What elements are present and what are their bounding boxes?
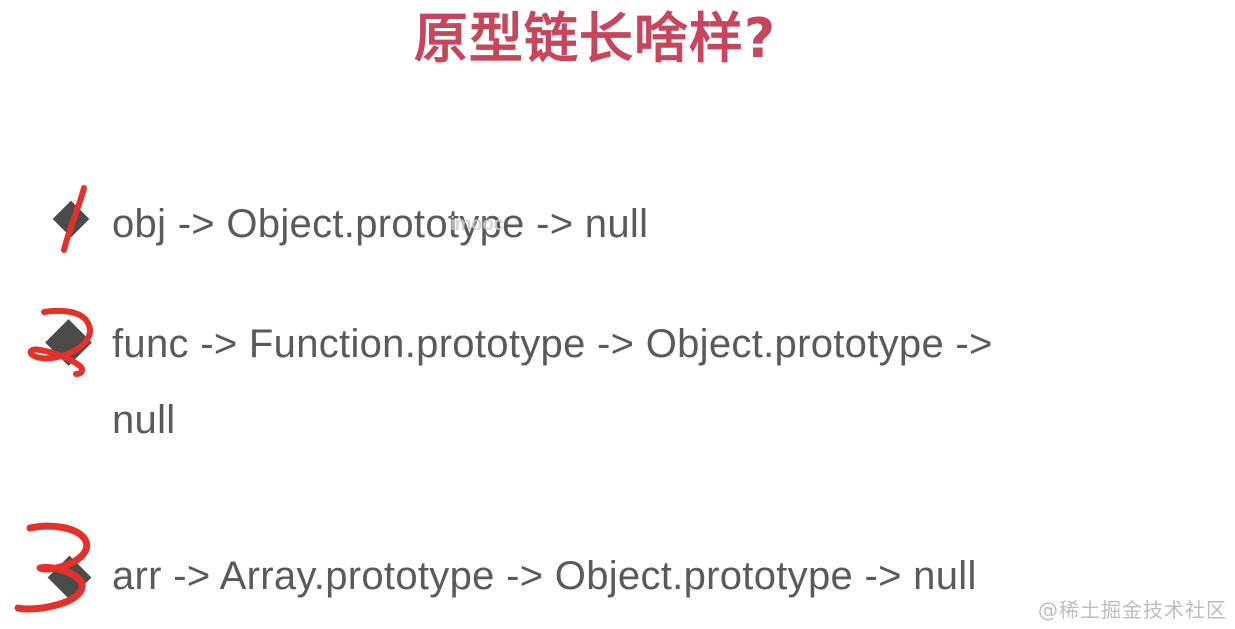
slide-canvas: 原型链长啥样? obj -> Object.prototype -> null … — [0, 0, 1235, 629]
list-item: func -> Function.prototype -> Object.pro… — [0, 312, 1235, 376]
continuation-indent-spacer — [0, 398, 112, 448]
bullet-marker-3 — [0, 544, 112, 608]
diamond-bullet-icon — [48, 556, 92, 600]
bullet-marker-2 — [0, 312, 112, 376]
page-title: 原型链长啥样? — [0, 8, 1190, 70]
chain-text-2-continuation-row: null — [0, 398, 1235, 448]
chain-text-3: arr -> Array.prototype -> Object.prototy… — [112, 544, 1112, 608]
diamond-bullet-icon — [53, 201, 90, 238]
list-item: obj -> Object.prototype -> null — [0, 192, 1235, 256]
bullet-marker-1 — [0, 192, 112, 256]
chain-text-1: obj -> Object.prototype -> null — [112, 192, 1112, 256]
corner-watermark: @稀土掘金技术社区 — [1038, 594, 1227, 623]
diamond-bullet-icon — [45, 319, 92, 366]
chain-text-2-continuation: null — [112, 398, 175, 448]
chain-text-2: func -> Function.prototype -> Object.pro… — [112, 312, 1102, 376]
prototype-chain-list: obj -> Object.prototype -> null func -> … — [0, 178, 1235, 609]
center-watermark: imooc — [450, 214, 503, 236]
